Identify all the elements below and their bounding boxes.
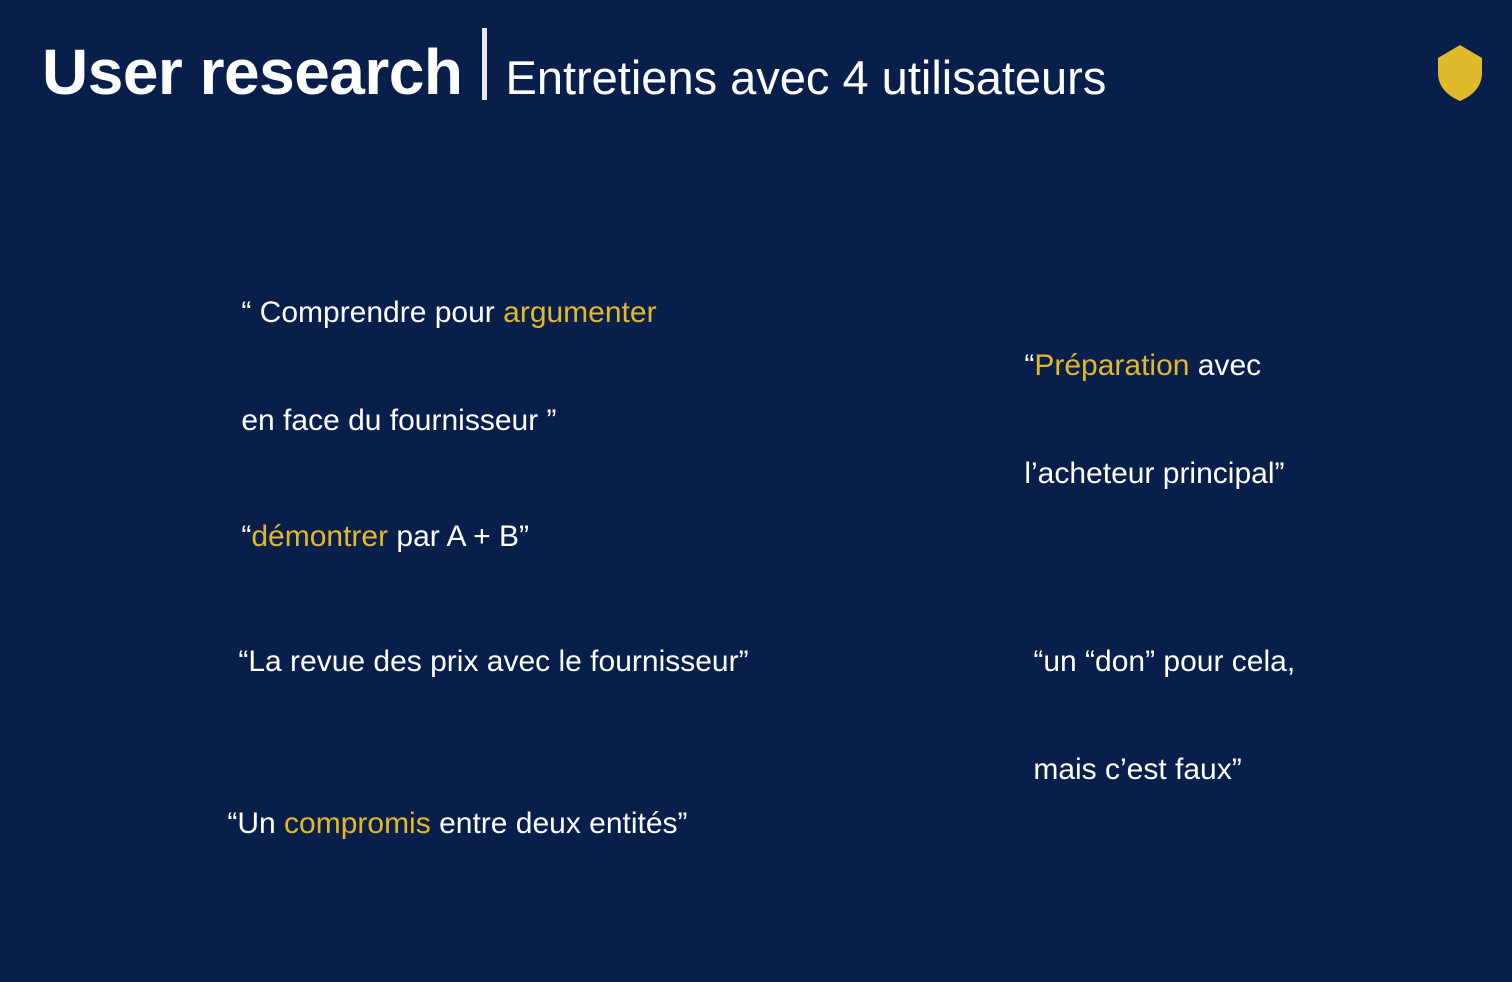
quote-compromis-line1-post: entre deux entités” [431,807,688,840]
quote-compromis: “Un compromis entre deux entités” [194,743,688,905]
quote-don-line1: “un “don” pour cela, [1033,645,1295,678]
quote-don-line2: mais c’est faux” [1033,753,1241,786]
quote-comprendre-highlight: argumenter [503,296,656,329]
quote-demontrer-highlight: démontrer [251,520,388,553]
quote-compromis-highlight: compromis [284,807,431,840]
quote-preparation-highlight: Préparation [1034,349,1189,382]
quote-preparation-line1-post: avec [1189,349,1261,382]
quote-revue-prix-line1: “La revue des prix avec le fournisseur” [238,645,748,678]
quote-demontrer-line1-pre: “ [241,520,251,553]
quote-preparation-line1-pre: “ [1024,349,1034,382]
quote-comprendre-line1-pre: “ Comprendre pour [241,296,503,329]
quote-demontrer-line1-post: par A + B” [388,520,529,553]
quote-preparation: “Préparation avec l’acheteur principal” [991,285,1284,555]
quotes-container: “ Comprendre pour argumenter en face du … [0,0,1512,982]
quote-comprendre-line2: en face du fournisseur ” [241,404,556,437]
quote-compromis-line1-pre: “Un [227,807,284,840]
quote-revue-prix: “La revue des prix avec le fournisseur” [205,581,749,743]
quote-don: “un “don” pour cela, mais c’est faux” [1000,581,1295,851]
quote-preparation-line2: l’acheteur principal” [1024,457,1284,490]
